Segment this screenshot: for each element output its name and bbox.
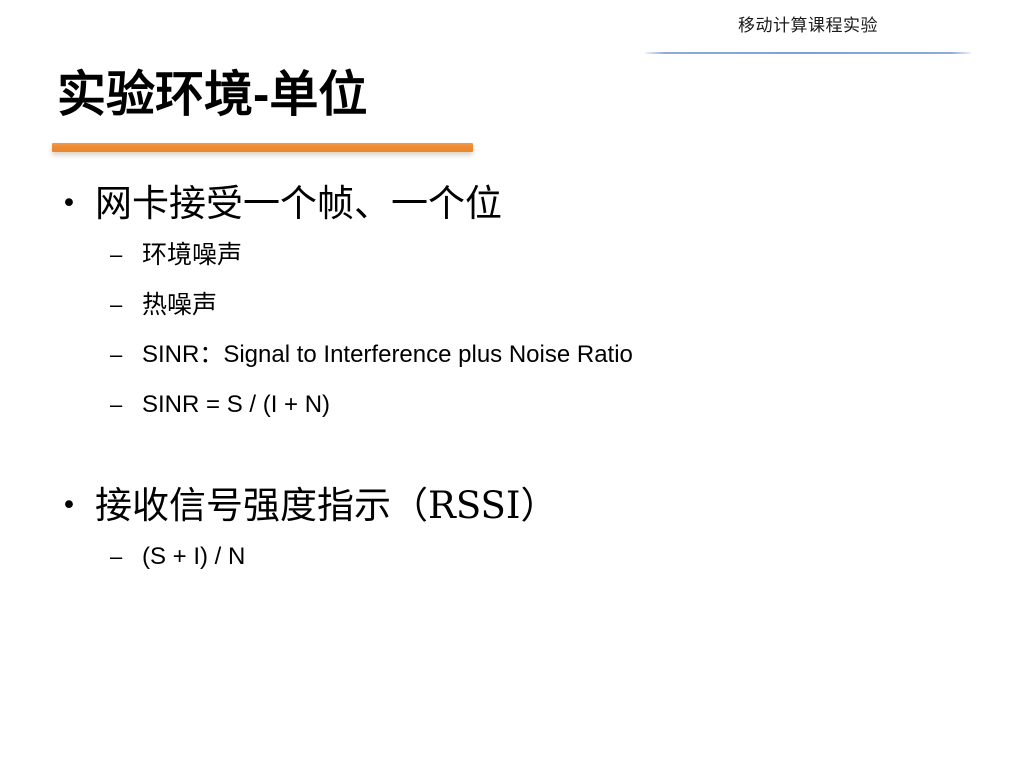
blank-line-spacer — [0, 430, 1024, 480]
sub-bullet-item: – (S + I) / N — [0, 532, 1024, 582]
page-title: 实验环境-单位 — [57, 64, 367, 126]
sub-bullet-text: 环境噪声 — [142, 240, 242, 269]
title-accent-bar — [52, 143, 473, 152]
sub-bullet-text: SINR：Signal to Interference plus Noise R… — [142, 341, 633, 368]
sub-bullet-item: – SINR：Signal to Interference plus Noise… — [0, 330, 1024, 380]
dash-icon: – — [110, 230, 132, 280]
slide-body: • 网卡接受一个帧、一个位 – 环境噪声 – 热噪声 – SINR：Signal… — [0, 178, 1024, 582]
sub-bullet-item: – 环境噪声 — [0, 230, 1024, 280]
slide-header: 移动计算课程实验 — [645, 14, 971, 38]
bullet-item: • 接收信号强度指示（RSSI） — [0, 480, 1024, 532]
sub-bullet-text: (S + I) / N — [142, 543, 245, 570]
header-divider-rule — [645, 52, 971, 54]
sub-bullet-text: 热噪声 — [142, 290, 217, 319]
bullet-text: 接收信号强度指示（RSSI） — [95, 484, 558, 527]
bullet-item: • 网卡接受一个帧、一个位 — [0, 178, 1024, 230]
sub-bullet-text: SINR = S / (I + N) — [142, 391, 330, 418]
dash-icon: – — [110, 280, 132, 330]
bullet-dot-icon: • — [61, 480, 83, 532]
sub-bullet-item: – 热噪声 — [0, 280, 1024, 330]
header-course-title: 移动计算课程实验 — [645, 14, 971, 38]
slide-canvas: 移动计算课程实验 实验环境-单位 • 网卡接受一个帧、一个位 – 环境噪声 – … — [0, 0, 1024, 768]
bullet-text: 网卡接受一个帧、一个位 — [95, 182, 502, 225]
dash-icon: – — [110, 380, 132, 430]
bullet-dot-icon: • — [61, 178, 83, 230]
dash-icon: – — [110, 330, 132, 380]
dash-icon: – — [110, 532, 132, 582]
sub-bullet-item: – SINR = S / (I + N) — [0, 380, 1024, 430]
